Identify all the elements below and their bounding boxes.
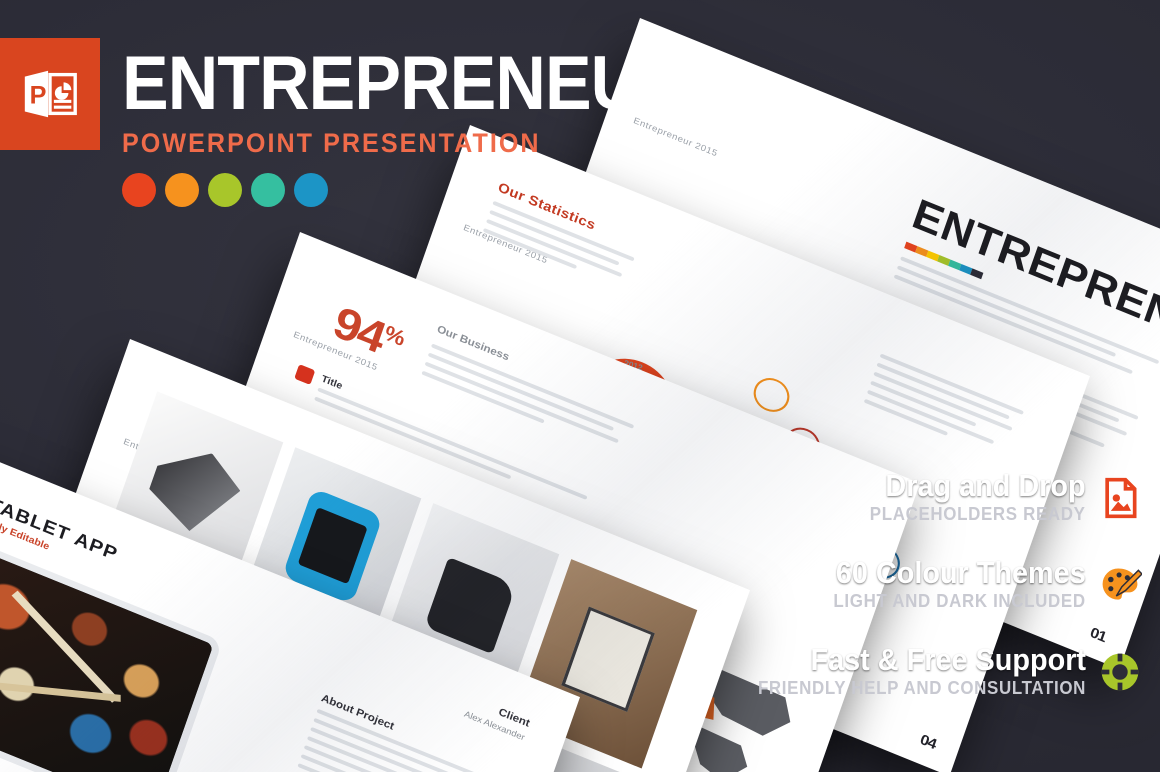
- swatch-blue[interactable]: [294, 173, 328, 207]
- color-palette-icon: [1098, 563, 1142, 607]
- client-block: Client Alex Alexander: [403, 670, 531, 742]
- feature-subtitle: FRIENDLY HELP AND CONSULTATION: [758, 678, 1086, 699]
- swatch-teal[interactable]: [251, 173, 285, 207]
- svg-text:P: P: [30, 82, 47, 110]
- color-swatch-row: [122, 173, 739, 207]
- swatch-red[interactable]: [122, 173, 156, 207]
- page-title: ENTREPRENEUR: [122, 48, 690, 120]
- life-ring-icon: [1098, 650, 1142, 694]
- swatch-orange[interactable]: [165, 173, 199, 207]
- tablet-device: [0, 540, 223, 772]
- feature-list: Drag and Drop PLACEHOLDERS READY 60 Colo…: [762, 470, 1142, 731]
- page-subtitle: POWERPOINT PRESENTATION: [122, 128, 696, 159]
- feature-title: Fast & Free Support: [761, 644, 1086, 676]
- feature-subtitle: LIGHT AND DARK INCLUDED: [833, 591, 1086, 612]
- feature-drag-and-drop: Drag and Drop PLACEHOLDERS READY: [762, 470, 1142, 525]
- powerpoint-glyph: P: [19, 63, 81, 125]
- powerpoint-icon: P: [0, 38, 100, 150]
- feature-colour-themes: 60 Colour Themes LIGHT AND DARK INCLUDED: [762, 557, 1142, 612]
- feature-title: 60 Colour Themes: [836, 557, 1086, 589]
- slide-number: 04: [918, 731, 938, 752]
- swatch-lime[interactable]: [208, 173, 242, 207]
- image-placeholder-icon: [1098, 476, 1142, 520]
- feature-subtitle: PLACEHOLDERS READY: [870, 504, 1086, 525]
- feature-title: Drag and Drop: [872, 470, 1086, 502]
- feature-support: Fast & Free Support FRIENDLY HELP AND CO…: [762, 644, 1142, 699]
- stats-big-number: 94%: [327, 295, 409, 370]
